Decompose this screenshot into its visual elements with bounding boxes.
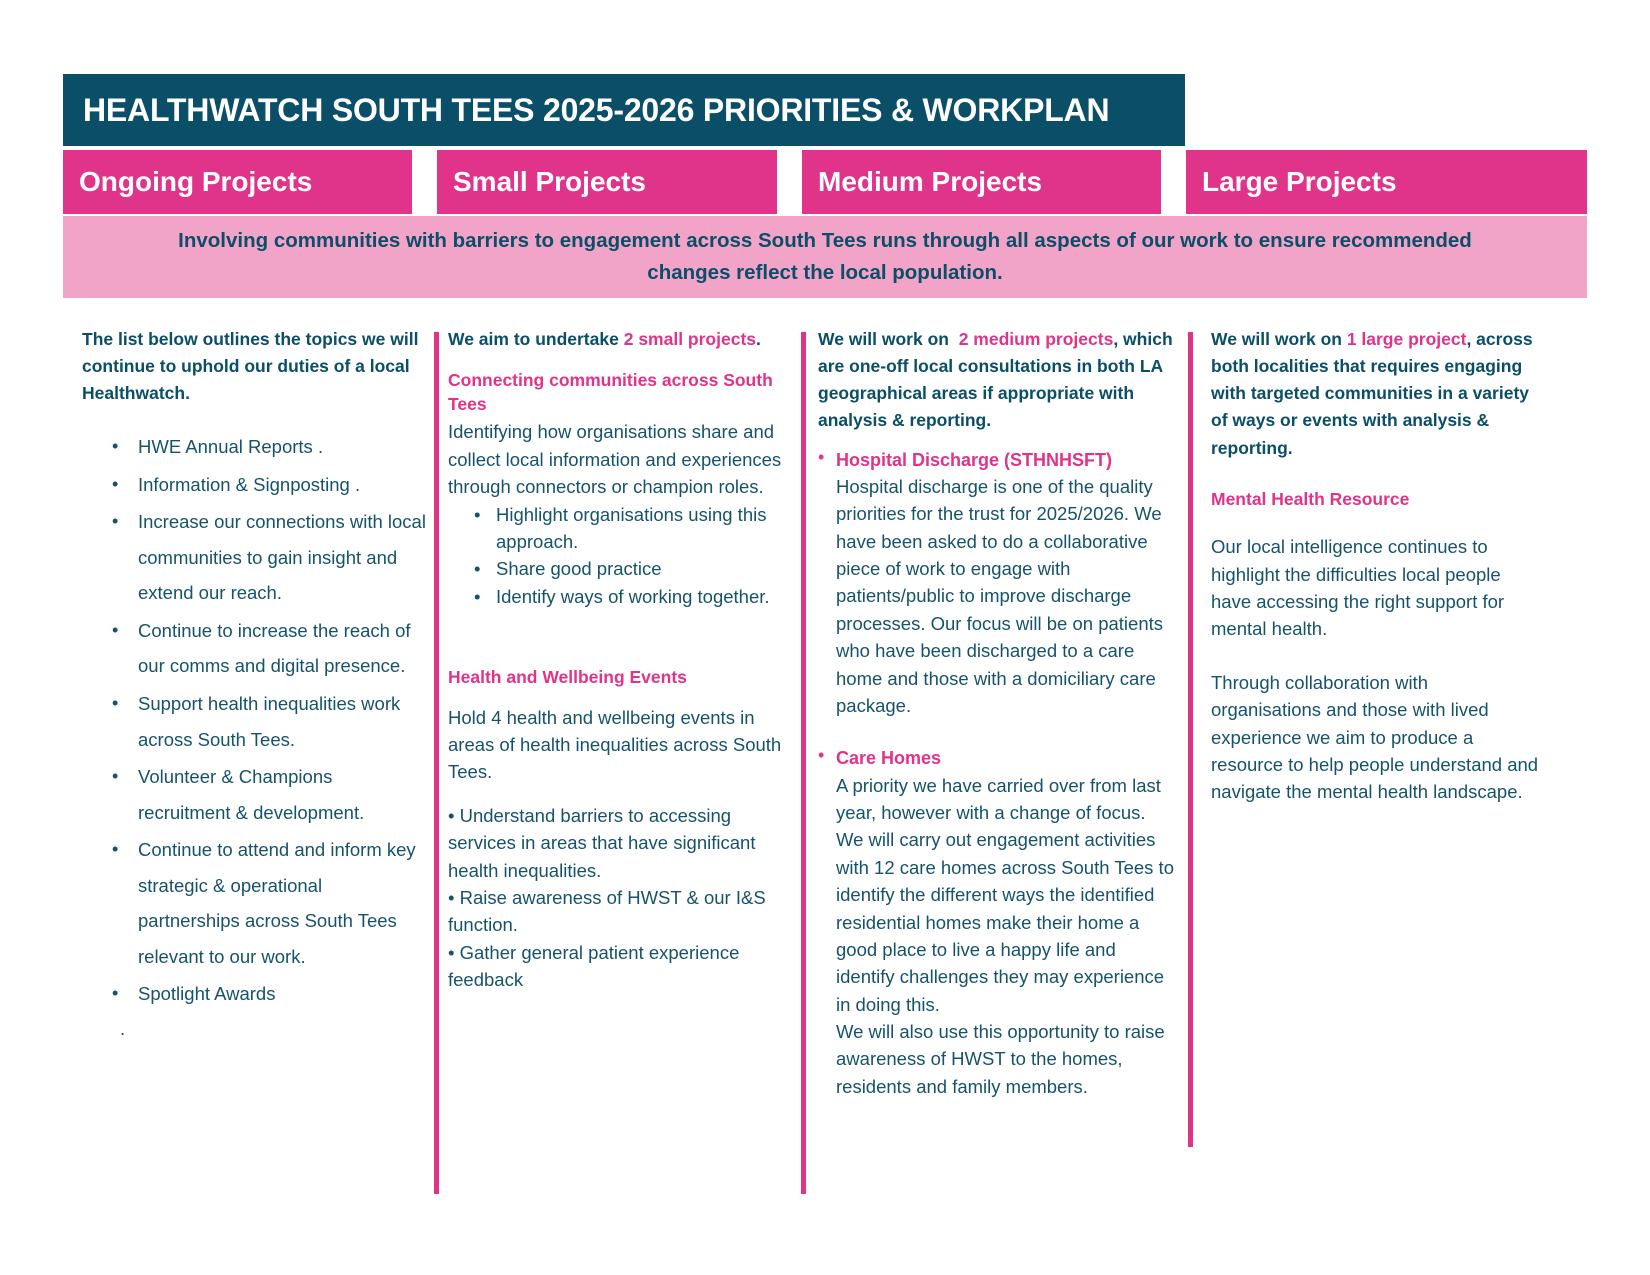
project-size-tabs: Ongoing Projects Small Projects Medium P… — [63, 150, 1587, 214]
medium-intro-plain: We will work on — [818, 329, 954, 349]
column-large-projects: We will work on 1 large project, across … — [1211, 326, 1541, 816]
ongoing-trailing-mark: . — [120, 1018, 427, 1040]
small-intro-end: . — [756, 329, 761, 349]
list-item: Continue to increase the reach of our co… — [112, 613, 427, 684]
medium-project-2: Care Homes A priority we have carried ov… — [818, 747, 1176, 1100]
list-item: Information & Signposting . — [112, 467, 427, 503]
spacer — [818, 719, 1176, 733]
medium-project-1: Hospital Discharge (STHNHSFT) Hospital d… — [818, 449, 1176, 720]
list-item: Identify ways of working together. — [474, 583, 788, 610]
small-intro-highlight: 2 small projects — [624, 329, 756, 349]
tab-medium-projects-label: Medium Projects — [802, 166, 1042, 198]
cross-cutting-banner: Involving communities with barriers to e… — [63, 216, 1587, 298]
large-intro: We will work on 1 large project, across … — [1211, 326, 1541, 462]
tab-large-projects[interactable]: Large Projects — [1186, 150, 1587, 214]
spacer — [448, 610, 788, 666]
medium-intro: We will work on 2 medium projects, which… — [818, 326, 1176, 435]
tab-large-projects-label: Large Projects — [1186, 166, 1397, 198]
ongoing-intro: The list below outlines the topics we wi… — [82, 326, 427, 407]
small-project-2-point-2: • Raise awareness of HWST & our I&S func… — [448, 884, 788, 939]
list-item: Increase our connections with local comm… — [112, 504, 427, 611]
column-divider-3 — [1188, 332, 1193, 1147]
large-project-paragraph-1: Our local intelligence continues to high… — [1211, 533, 1541, 643]
medium-project-2-title: Care Homes — [836, 747, 1176, 770]
large-intro-plain: We will work on — [1211, 329, 1347, 349]
small-project-2-point-3: • Gather general patient experience feed… — [448, 939, 788, 994]
large-project-title: Mental Health Resource — [1211, 488, 1541, 512]
medium-project-1-title: Hospital Discharge (STHNHSFT) — [836, 449, 1176, 472]
page-title: HEALTHWATCH SOUTH TEES 2025-2026 PRIORIT… — [63, 92, 1109, 129]
small-intro-plain: We aim to undertake — [448, 329, 619, 349]
column-small-projects: We aim to undertake 2 small projects. Co… — [448, 326, 788, 993]
medium-project-2-body-2: We will also use this opportunity to rai… — [836, 1018, 1176, 1100]
small-project-2-title: Health and Wellbeing Events — [448, 666, 788, 690]
small-intro: We aim to undertake 2 small projects. — [448, 326, 788, 353]
tab-small-projects-label: Small Projects — [437, 166, 646, 198]
list-item: HWE Annual Reports . — [112, 429, 427, 465]
column-divider-2 — [801, 332, 806, 1194]
medium-project-1-body: Hospital discharge is one of the quality… — [836, 473, 1176, 719]
small-project-1-title: Connecting communities across South Tees — [448, 369, 788, 416]
column-divider-1 — [434, 332, 439, 1194]
banner-line-2: changes reflect the local population. — [647, 257, 1002, 289]
tab-ongoing-projects-label: Ongoing Projects — [63, 166, 312, 198]
banner-line-1: Involving communities with barriers to e… — [178, 225, 1472, 257]
small-project-1-body: Identifying how organisations share and … — [448, 418, 788, 500]
tab-ongoing-projects[interactable]: Ongoing Projects — [63, 150, 412, 214]
workplan-page: HEALTHWATCH SOUTH TEES 2025-2026 PRIORIT… — [0, 0, 1650, 1275]
small-project-2-point-1: • Understand barriers to accessing servi… — [448, 802, 788, 884]
column-medium-projects: We will work on 2 medium projects, which… — [818, 326, 1176, 1100]
list-item: Share good practice — [474, 555, 788, 582]
small-project-2-body: Hold 4 health and wellbeing events in ar… — [448, 704, 788, 786]
list-item: Continue to attend and inform key strate… — [112, 832, 427, 974]
list-item: Highlight organisations using this appro… — [474, 501, 788, 556]
ongoing-bullet-list: HWE Annual Reports . Information & Signp… — [82, 429, 427, 1011]
list-item: Volunteer & Champions recruitment & deve… — [112, 759, 427, 830]
tab-medium-projects[interactable]: Medium Projects — [802, 150, 1161, 214]
small-project-1-bullets: Highlight organisations using this appro… — [448, 501, 788, 611]
list-item: Support health inequalities work across … — [112, 686, 427, 757]
column-ongoing-projects: The list below outlines the topics we wi… — [82, 326, 427, 1040]
medium-intro-highlight: 2 medium projects — [959, 329, 1114, 349]
page-title-bar: HEALTHWATCH SOUTH TEES 2025-2026 PRIORIT… — [63, 74, 1185, 146]
large-project-paragraph-2: Through collaboration with organisations… — [1211, 669, 1541, 806]
list-item: Spotlight Awards — [112, 976, 427, 1012]
medium-project-2-body: A priority we have carried over from las… — [836, 772, 1176, 1018]
tab-small-projects[interactable]: Small Projects — [437, 150, 777, 214]
large-intro-highlight: 1 large project — [1347, 329, 1467, 349]
